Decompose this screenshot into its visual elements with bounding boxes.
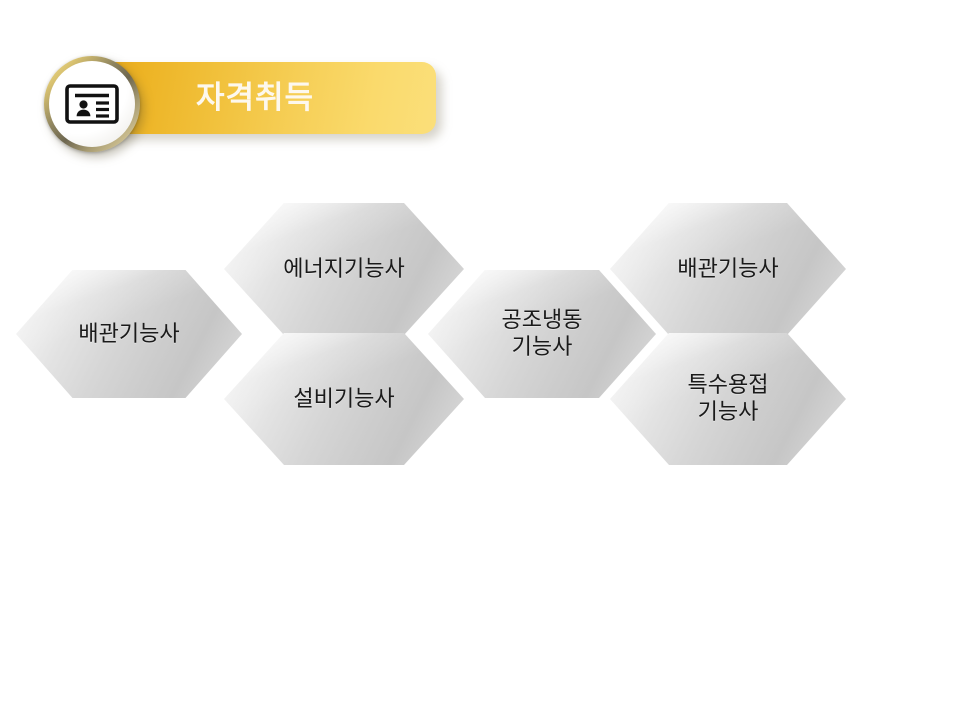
hexagon-node[interactable]: 배관기능사 xyxy=(610,203,846,335)
page-title: 자격취득 xyxy=(196,72,426,124)
hexagon-node[interactable]: 에너지기능사 xyxy=(224,203,464,335)
hexagon-label: 에너지기능사 xyxy=(283,256,404,283)
id-card-icon xyxy=(49,61,135,147)
hexagon-label: 배관기능사 xyxy=(78,321,179,348)
hexagon-node[interactable]: 배관기능사 xyxy=(16,270,242,398)
hexagon-node[interactable]: 설비기능사 xyxy=(224,333,464,465)
hexagon-label: 공조냉동 기능사 xyxy=(502,307,583,361)
hexagon-node[interactable]: 특수용접 기능사 xyxy=(610,333,846,465)
slide-header: 자격취득 xyxy=(0,0,960,190)
hexagon-label: 설비기능사 xyxy=(293,386,394,413)
slide-canvas: 자격취득 배관기능사 에너지기능사 설비기능사 xyxy=(0,0,960,720)
hexagon-label: 배관기능사 xyxy=(677,256,778,283)
hexagon-label: 특수용접 기능사 xyxy=(688,372,769,426)
hexagon-diagram: 배관기능사 에너지기능사 설비기능사 공조냉동 기능사 배관기능사 특수용접 기… xyxy=(0,190,960,480)
hexagon-node[interactable]: 공조냉동 기능사 xyxy=(428,270,656,398)
